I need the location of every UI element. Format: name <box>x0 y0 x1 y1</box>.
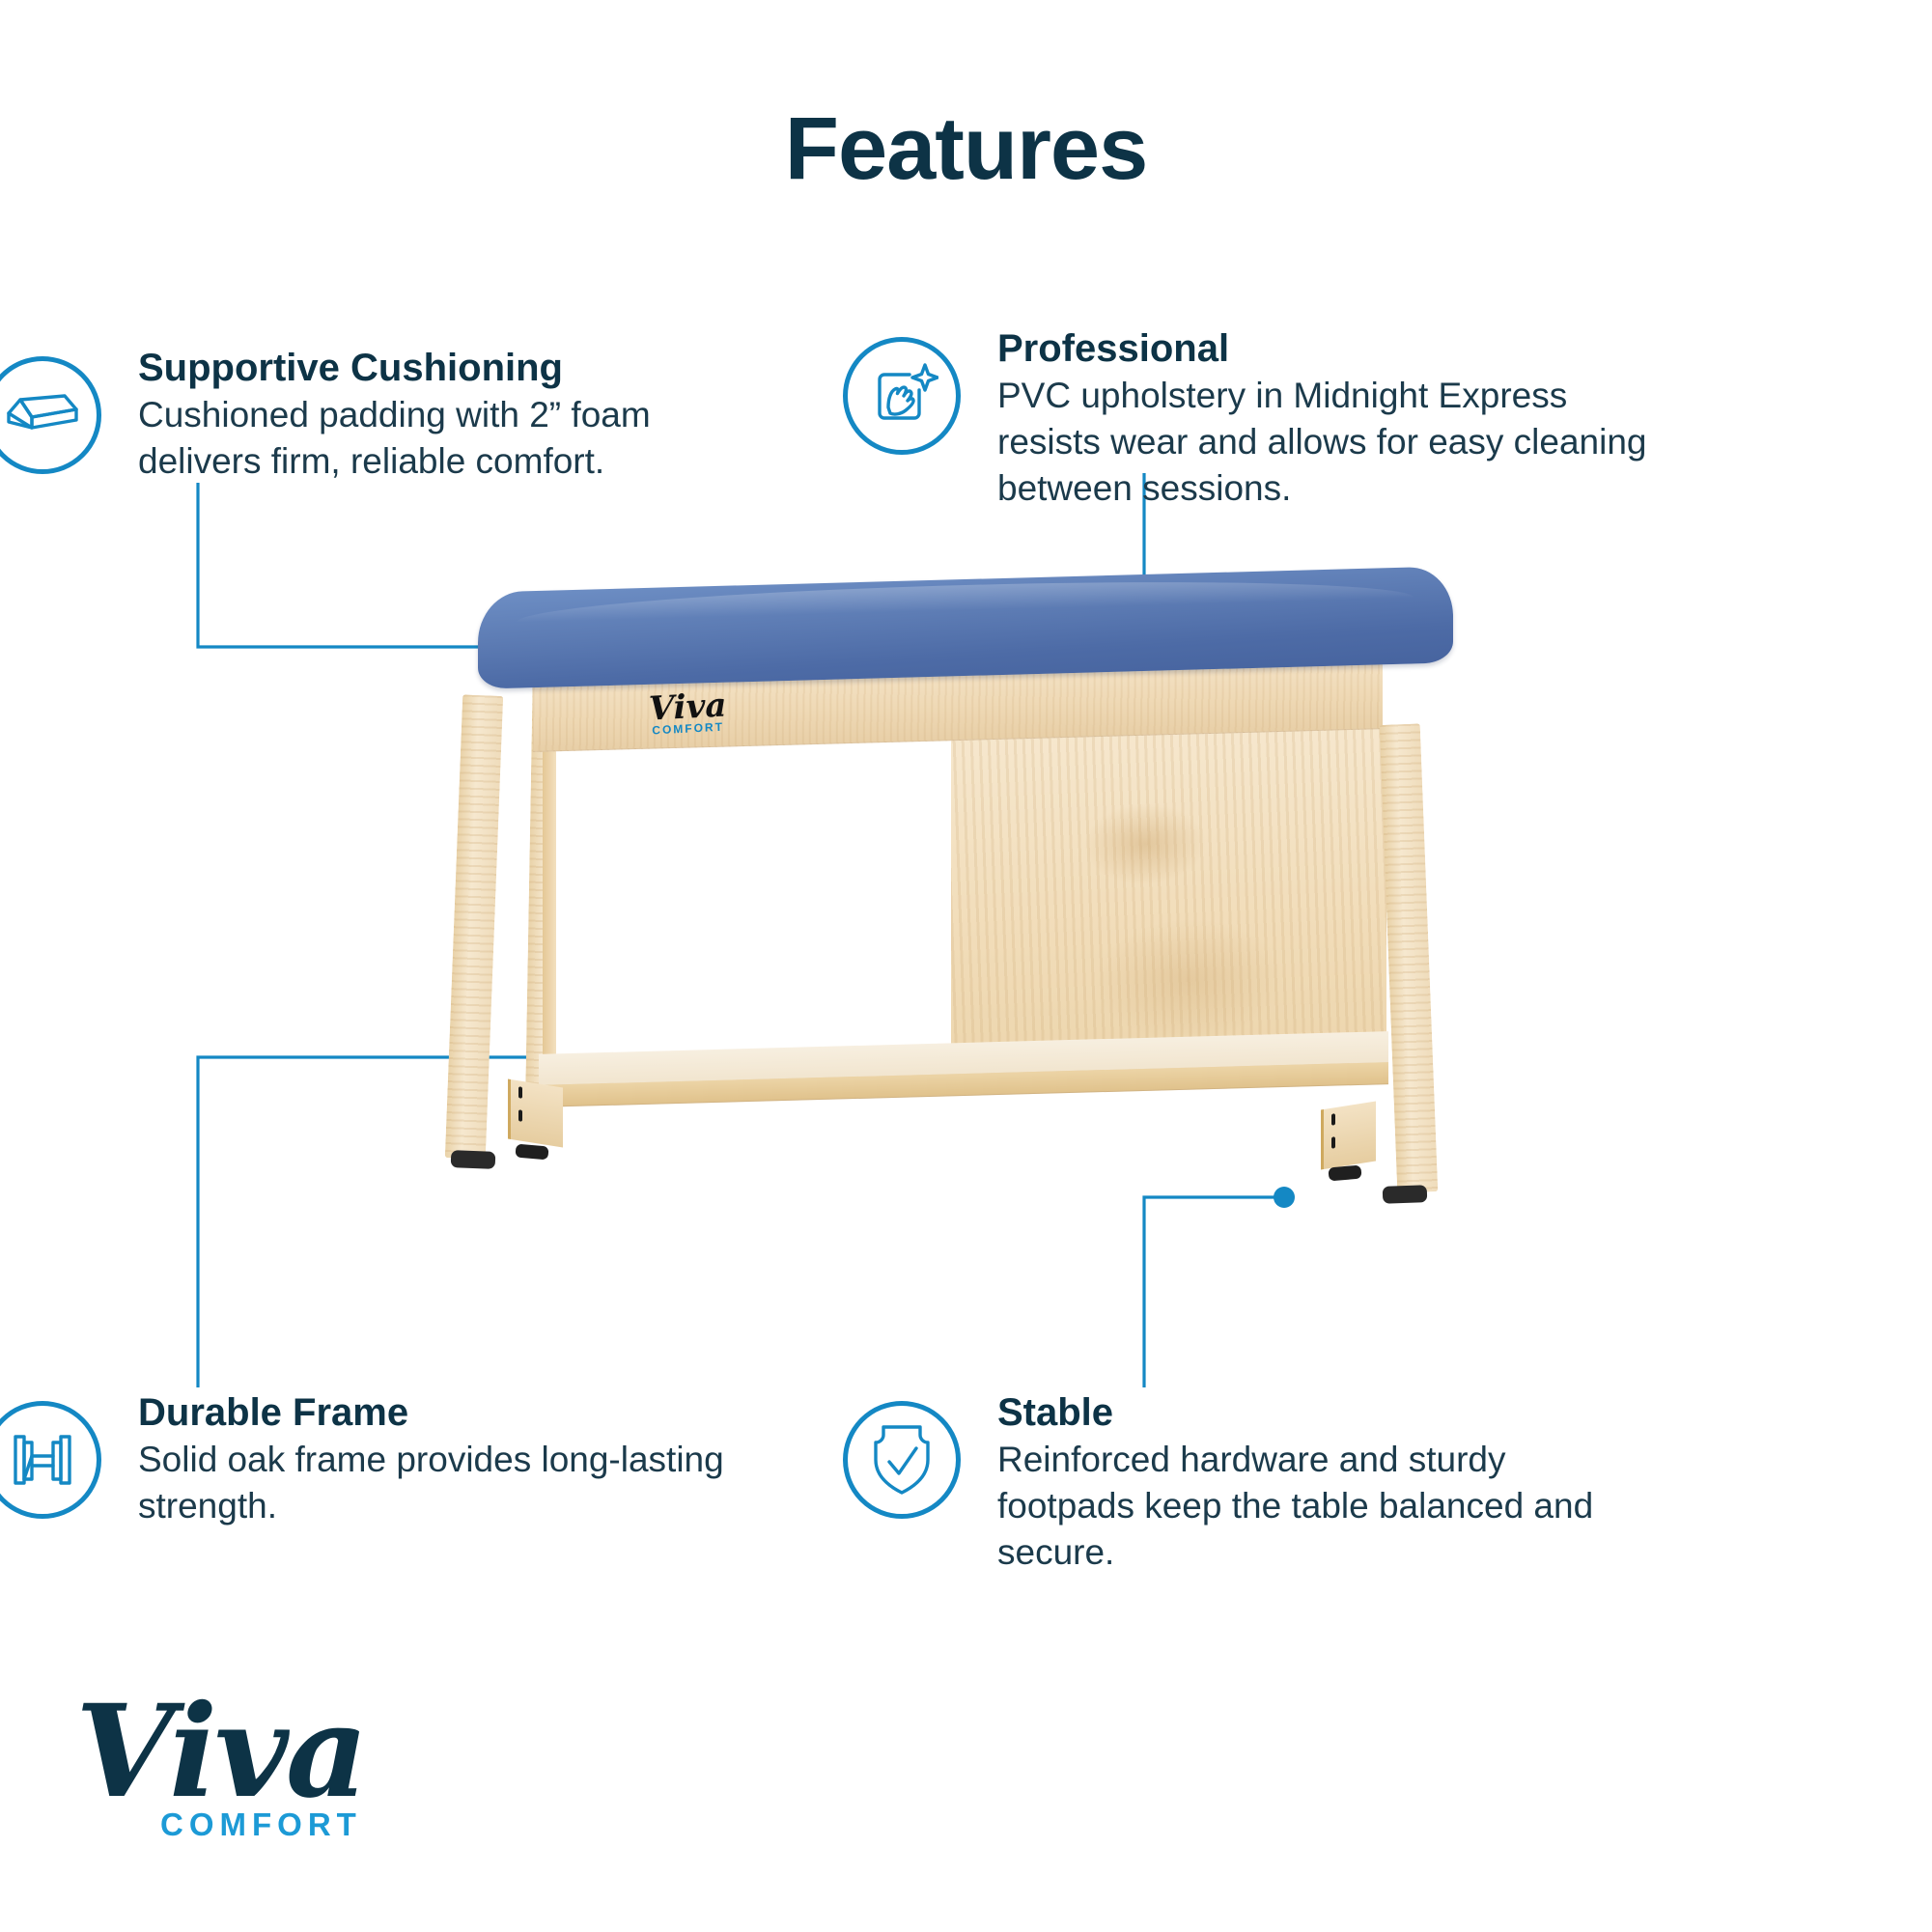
table-footpad-right <box>1383 1185 1428 1204</box>
feature-stable: Stable Reinforced hardware and sturdy fo… <box>997 1387 1635 1576</box>
feature-title: Supportive Cushioning <box>138 347 756 390</box>
table-side-panel <box>944 728 1386 1082</box>
table-footpad-inner-right <box>1328 1165 1361 1182</box>
feature-title: Stable <box>997 1391 1635 1435</box>
table-inner-edge <box>543 734 556 1057</box>
table-footpad-left <box>451 1150 496 1169</box>
feature-body: PVC upholstery in Midnight Express resis… <box>997 373 1664 512</box>
feature-supportive-cushioning: Supportive Cushioning Cushioned padding … <box>138 343 756 485</box>
table-leg-front-left <box>445 694 503 1159</box>
brand-subtitle: COMFORT <box>160 1806 394 1843</box>
feature-title: Durable Frame <box>138 1391 737 1435</box>
frame-icon <box>0 1401 101 1519</box>
brand-logo: Viva COMFORT <box>75 1692 394 1843</box>
infographic-canvas: Features Viva COMFORT <box>0 0 1932 1932</box>
table-bracket-right <box>1321 1101 1376 1169</box>
cushion-icon <box>0 356 101 474</box>
feature-body: Reinforced hardware and sturdy footpads … <box>997 1437 1635 1576</box>
apron-brand-logo: Viva COMFORT <box>648 689 727 738</box>
table-bracket-left <box>508 1078 563 1147</box>
product-image-treatment-table: Viva COMFORT <box>454 579 1477 1352</box>
wipe-clean-sparkle-icon <box>843 337 961 455</box>
feature-title: Professional <box>997 327 1664 371</box>
feature-body: Solid oak frame provides long-lasting st… <box>138 1437 737 1529</box>
brand-wordmark: Viva <box>75 1692 394 1812</box>
table-footpad-inner-left <box>515 1144 548 1161</box>
page-title: Features <box>0 104 1932 193</box>
feature-durable-frame: Durable Frame Solid oak frame provides l… <box>138 1387 737 1529</box>
shield-check-icon <box>843 1401 961 1519</box>
table-open-compartment <box>546 728 951 1057</box>
table-leg-front-right <box>1380 723 1439 1192</box>
feature-professional: Professional PVC upholstery in Midnight … <box>997 323 1664 512</box>
feature-body: Cushioned padding with 2” foam delivers … <box>138 392 756 485</box>
